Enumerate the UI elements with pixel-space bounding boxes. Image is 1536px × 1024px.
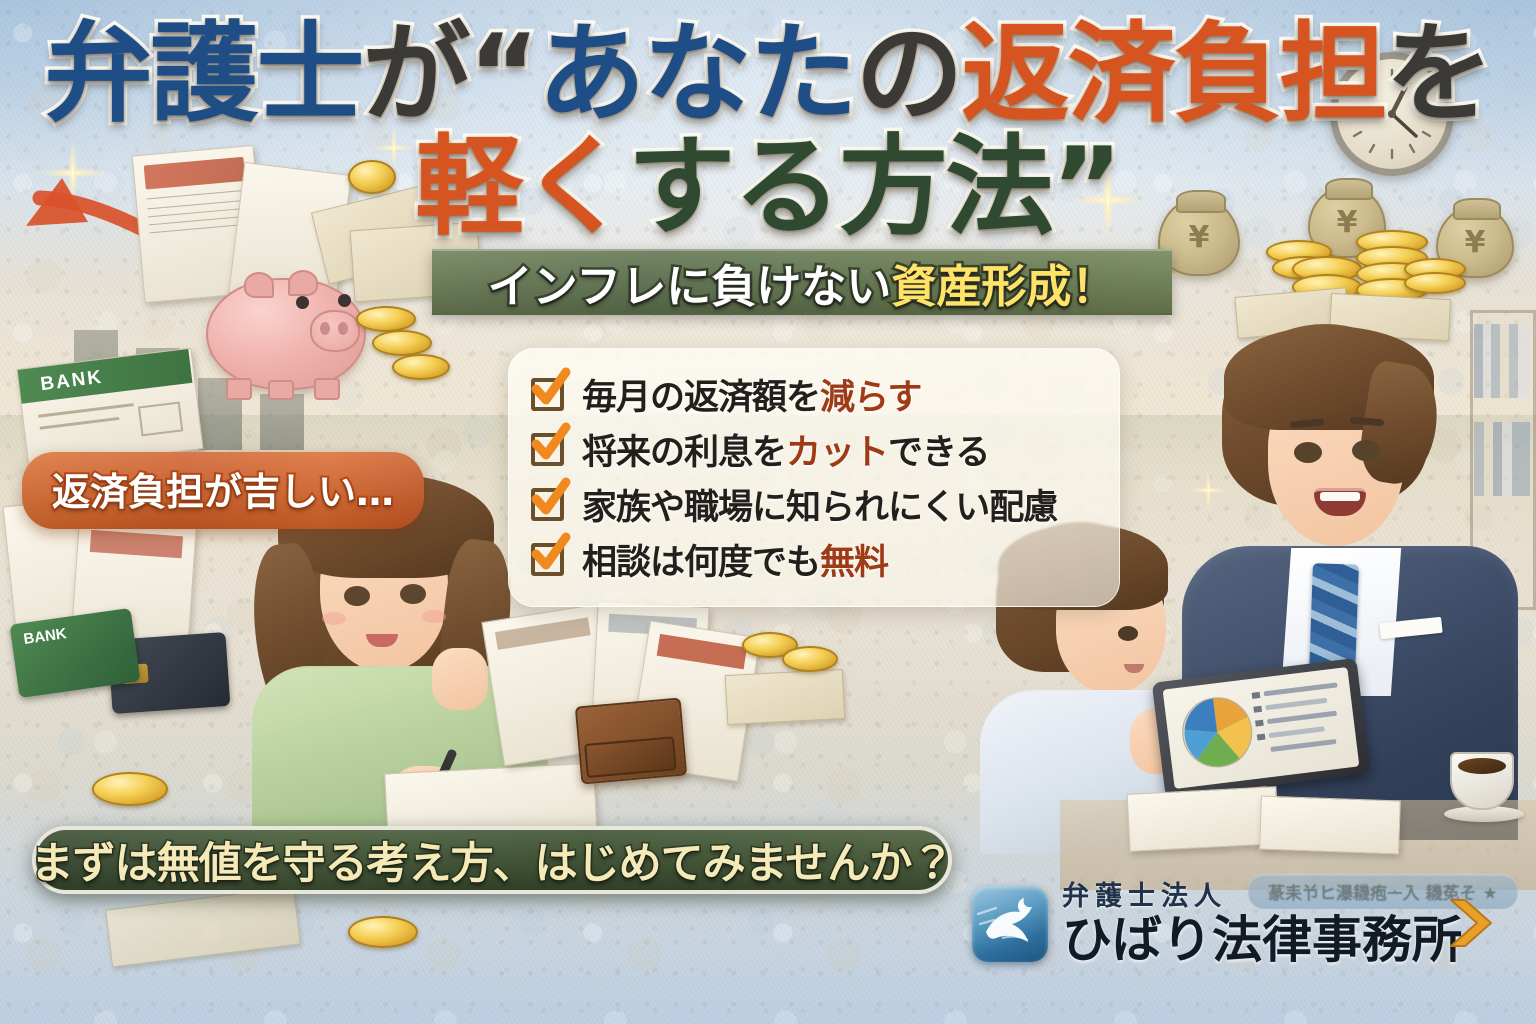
checkbox-checked-icon-3[interactable] <box>531 488 564 521</box>
cta-banner[interactable]: まずは無値を守る考え方、はじめてみませんか？ <box>32 826 952 894</box>
headline-line-2: 軽くする方法” <box>0 135 1536 242</box>
checklist-item-2[interactable]: 将来の利息をカットできる <box>531 423 1097 475</box>
checklist-text-4-highlight: 無料 <box>820 543 888 583</box>
checklist-item-1[interactable]: 毎月の返済額を減らす <box>531 368 1097 420</box>
checklist-text-1: 毎月の返済額を減らす <box>582 369 921 420</box>
headline-seg-bengoshi: 弁護士 <box>44 12 362 137</box>
subtitle-part2: ！ <box>1071 250 1116 315</box>
headline-seg-suruhouhou: する方法 <box>628 125 1052 250</box>
checklist-text-3: 家族や職場に知られにくい配慮 <box>582 479 1057 530</box>
banknote-bottom-scatter <box>105 887 301 968</box>
checklist-text-4: 相談は何度でも無料 <box>582 534 888 585</box>
benefits-checklist: 毎月の返済額を減らす 将来の利息をカットできる 家族や職場に知られにくい配慮 相… <box>508 348 1120 607</box>
checkbox-checked-icon-2[interactable] <box>531 433 564 466</box>
checkbox-checked-icon-4[interactable] <box>531 543 564 576</box>
checklist-text-2: 将来の利息をカットできる <box>582 424 989 475</box>
subtitle-bar: インフレに負けない資産形成！ <box>432 249 1172 315</box>
headline-line-1: 弁護士が“あなたの返済負担を <box>0 22 1536 129</box>
chevron-right-icon[interactable] <box>1443 896 1501 950</box>
headline-seg-wo: を <box>1386 12 1492 137</box>
headline-seg-ga: が <box>362 12 468 137</box>
checklist-text-2-post: できる <box>888 433 989 473</box>
piggy-bank-icon <box>192 252 382 402</box>
headline: 弁護士が“あなたの返済負担を 軽くする方法” <box>0 22 1536 242</box>
bird-icon <box>972 886 1048 962</box>
coffee-cup <box>1436 740 1528 826</box>
law-firm-title: ひばり法律事務所 <box>1062 915 1462 965</box>
gold-coin-bottom-1 <box>92 772 168 806</box>
gold-coin-3 <box>372 330 432 356</box>
banknote-stack-center <box>725 669 845 725</box>
headline-seg-no: の <box>855 12 961 137</box>
coin-stack-d-2 <box>1404 272 1466 294</box>
desk-document-2 <box>1259 796 1401 855</box>
headline-seg-hensaifutan: 返済負担 <box>962 12 1386 137</box>
headline-quote-open: “ <box>468 12 537 137</box>
gold-coin-2 <box>356 306 416 332</box>
checklist-text-4-pre: 相談は何度でも <box>582 543 820 583</box>
checklist-item-3[interactable]: 家族や職場に知られにくい配慮 <box>531 478 1097 530</box>
pain-point-text: 返済負担が吉しい… <box>52 470 394 514</box>
headline-seg-karuku: 軽く <box>415 125 627 250</box>
subtitle-highlight: 資産形成 <box>891 250 1071 315</box>
gold-coin-4 <box>392 354 450 380</box>
ad-banner: BANK BANK <box>0 0 1536 1024</box>
gold-coin-bottom-2 <box>348 916 418 948</box>
headline-quote-close: ” <box>1052 125 1121 250</box>
tablet-pie-chart <box>1172 687 1263 778</box>
gold-coin-center-2 <box>782 646 838 672</box>
checkbox-checked-icon-1[interactable] <box>531 378 564 411</box>
cta-text: まずは無値を守る考え方、はじめてみませんか？ <box>31 829 954 891</box>
checklist-text-1-pre: 毎月の返済額を <box>582 378 820 418</box>
checklist-text-1-highlight: 減らす <box>820 378 921 418</box>
checklist-text-2-pre: 将来の利息を <box>582 433 786 473</box>
pain-point-badge: 返済負担が吉しい… <box>22 452 424 529</box>
checklist-text-2-highlight: カット <box>786 433 888 473</box>
headline-seg-anata: あなた <box>537 12 855 137</box>
bar-chart-bar-4 <box>260 394 304 450</box>
subtitle-part1: インフレに負けない <box>488 250 892 315</box>
desk-document-1 <box>1127 786 1280 852</box>
checklist-text-3-pre: 家族や職場に知られにくい配慮 <box>582 488 1057 528</box>
checklist-item-4[interactable]: 相談は何度でも無料 <box>531 533 1097 585</box>
leather-wallet <box>575 698 687 785</box>
